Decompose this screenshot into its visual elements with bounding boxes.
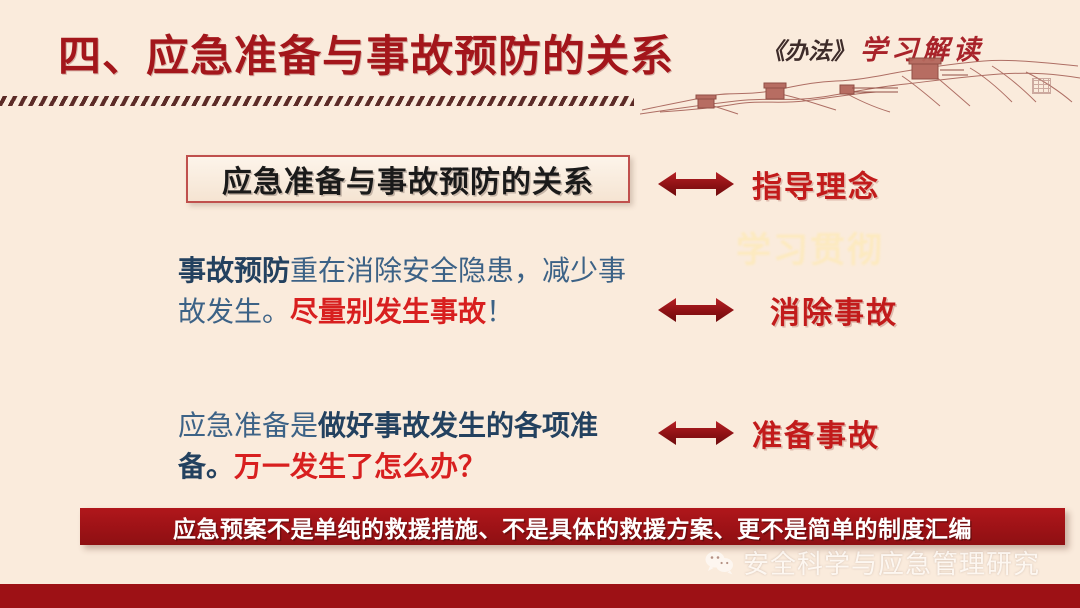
para2-seg-3: 万一发生了怎么办？: [234, 450, 486, 483]
relation-label-2: 消除事故: [770, 288, 898, 332]
para1-seg-1: 重在消除安全隐患，减: [290, 254, 570, 287]
para1-seg-3: 尽量别发生事故: [290, 295, 486, 328]
faint-watermark-text: 学习贯彻: [736, 222, 884, 273]
para1-seg-4: ！: [486, 295, 514, 328]
double-arrow-icon: [656, 295, 736, 325]
para1-seg-0: 事故预防: [178, 254, 290, 287]
relation-row-prepare-accident: 准备事故: [656, 411, 880, 455]
bottom-red-bar: [0, 584, 1080, 608]
paragraph-preparedness: 应急准备是做好事故发生的各项准备。万一发生了怎么办？: [178, 405, 648, 487]
para2-seg-0: 应急准备是: [178, 409, 318, 442]
para2-seg-1: 做好事故发生的各项: [318, 409, 570, 442]
bottom-banner-text: 应急预案不是单纯的救援措施、不是具体的救援方案、更不是简单的制度汇编: [173, 510, 972, 544]
relation-label-3: 准备事故: [752, 411, 880, 455]
wechat-watermark: 安全科学与应急管理研究: [704, 544, 1040, 581]
double-arrow-icon: [656, 169, 736, 199]
hatched-divider: [0, 96, 634, 106]
slide-canvas: 四、应急准备与事故预防的关系 《办法》学习解读: [0, 0, 1080, 608]
bottom-banner: 应急预案不是单纯的救援措施、不是具体的救援方案、更不是简单的制度汇编: [80, 508, 1065, 545]
paragraph-prevention: 事故预防重在消除安全隐患，减少事故发生。尽量别发生事故！: [178, 250, 648, 332]
wechat-watermark-text: 安全科学与应急管理研究: [743, 544, 1040, 581]
double-arrow-icon: [656, 418, 736, 448]
relation-row-guiding-concept: 指导理念: [656, 162, 880, 206]
seal-stamp-icon: [1032, 78, 1051, 94]
calligraphy-subtitle: 学习解读: [860, 35, 984, 66]
page-title: 四、应急准备与事故预防的关系: [58, 22, 674, 84]
relation-row-eliminate-accident: 消除事故: [656, 288, 898, 332]
calligraphy-heading: 《办法》学习解读: [762, 28, 984, 67]
relation-label-1: 指导理念: [752, 162, 880, 206]
concept-box: 应急准备与事故预防的关系: [186, 155, 630, 203]
concept-box-label: 应急准备与事故预防的关系: [222, 157, 594, 201]
calligraphy-book-title: 《办法》: [762, 38, 854, 65]
wechat-logo-icon: [704, 550, 734, 575]
